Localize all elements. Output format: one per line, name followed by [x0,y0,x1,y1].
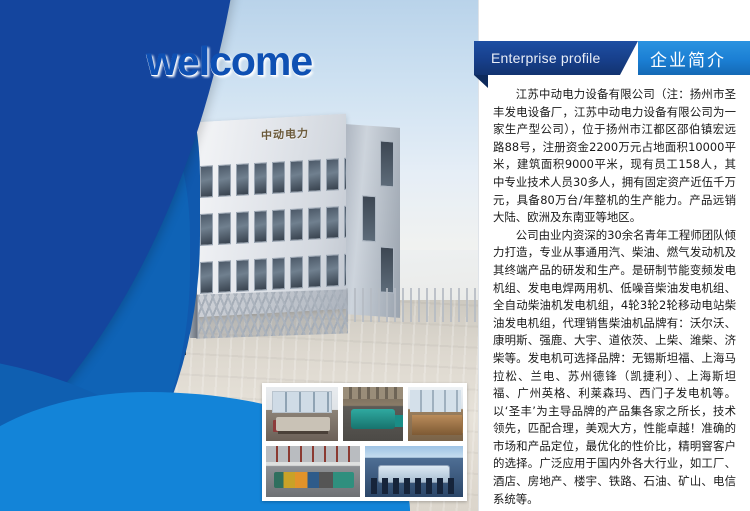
roof-company-sign: 中动电力 [261,125,309,144]
company-profile-text: 江苏中动电力设备有限公司（注：扬州市圣丰发电设备厂，江苏中动电力设备有限公司为一… [493,86,736,508]
company-profile-banner: 中动电力 江苏中动电力设备有限公司 Jiangsu Zhongdong Powe… [0,0,750,511]
lobby-reception-photo[interactable] [407,386,464,442]
conference-room-photo[interactable] [364,445,464,498]
photo-gallery [262,383,467,501]
main-office-building [196,114,346,317]
profile-panel: Enterprise profile 企业简介 江苏中动电力设备有限公司（注：扬… [478,0,750,511]
workshop-photo[interactable] [265,445,361,498]
welcome-title: welcome [146,38,312,85]
profile-paragraph-1: 江苏中动电力设备有限公司（注：扬州市圣丰发电设备厂，江苏中动电力设备有限公司为一… [493,86,736,227]
ribbon-chinese-segment: 企业简介 [638,41,750,75]
office-meeting-photo[interactable] [265,386,339,442]
ribbon-chinese-label: 企业简介 [638,46,726,71]
profile-paragraph-2: 公司由业内资深的30余名青年工程师团队倾力打造，专业从事通用汽、柴油、燃气发动机… [493,227,736,509]
ribbon-english-segment: Enterprise profile [474,41,620,75]
profile-panel-inner: Enterprise profile 企业简介 江苏中动电力设备有限公司（注：扬… [478,0,750,511]
section-header-ribbon: Enterprise profile 企业简介 [474,41,750,75]
perimeter-fence [346,288,478,322]
left-hero-panel: 中动电力 江苏中动电力设备有限公司 Jiangsu Zhongdong Powe… [0,0,478,511]
ribbon-english-label: Enterprise profile [474,50,600,66]
factory-gate [196,289,348,338]
generator-set-photo[interactable] [342,386,404,442]
ribbon-notch-icon [620,41,638,75]
